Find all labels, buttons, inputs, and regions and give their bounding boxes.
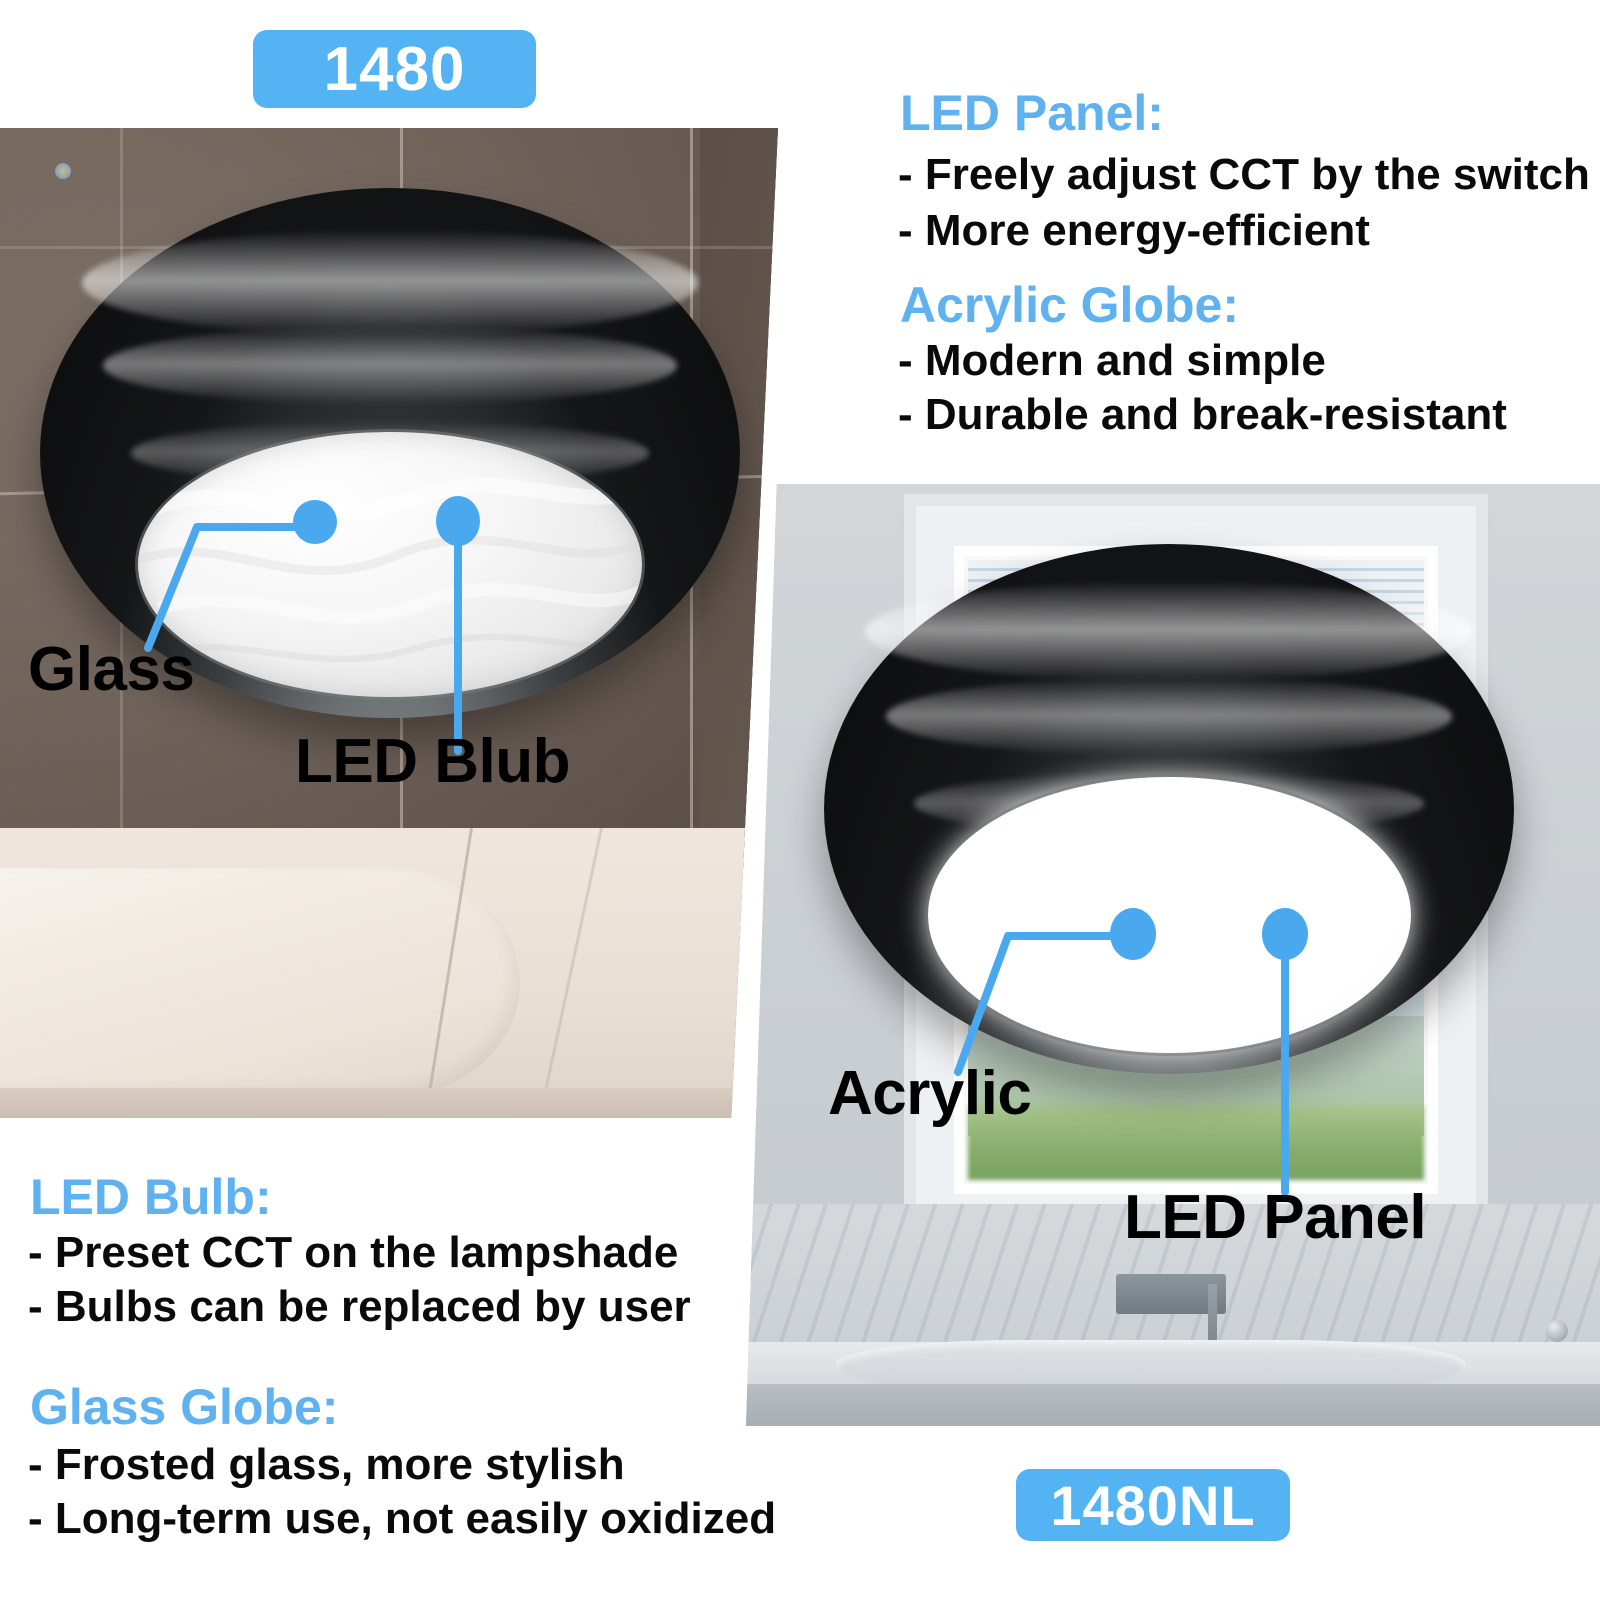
- callout-leader-led-panel: [1266, 950, 1316, 1200]
- tile-highlight-speck: [55, 163, 71, 179]
- infographic-canvas: Glass LED Blub: [0, 0, 1600, 1600]
- counter-edge: [746, 1384, 1600, 1426]
- bullet-led-panel-2: - More energy-efficient: [898, 206, 1370, 256]
- callout-leader-acrylic: [936, 922, 1156, 1182]
- bullet-acrylic-globe-2: - Durable and break-resistant: [898, 390, 1507, 440]
- callout-label-acrylic: Acrylic: [828, 1058, 1031, 1129]
- lamp-gloss-highlight: [103, 326, 677, 406]
- product-photo-1480nl: Acrylic LED Panel: [746, 484, 1600, 1426]
- heading-led-bulb: LED Bulb:: [30, 1168, 272, 1226]
- model-badge-1480: 1480: [253, 30, 536, 108]
- heading-acrylic-globe: Acrylic Globe:: [900, 276, 1239, 334]
- heading-glass-globe: Glass Globe:: [30, 1378, 338, 1436]
- lamp-gloss-highlight: [82, 230, 698, 336]
- lamp-gloss-highlight: [865, 581, 1472, 682]
- bullet-glass-globe-1: - Frosted glass, more stylish: [28, 1440, 625, 1490]
- ceiling-light-fixture-1480nl: [824, 544, 1514, 1074]
- bullet-led-bulb-2: - Bulbs can be replaced by user: [28, 1282, 691, 1332]
- callout-label-led-panel: LED Panel: [1124, 1182, 1426, 1253]
- bullet-led-bulb-1: - Preset CCT on the lampshade: [28, 1228, 678, 1278]
- product-photo-1480: Glass LED Blub: [0, 128, 778, 1118]
- callout-label-led-bulb: LED Blub: [295, 726, 570, 797]
- faucet-stem: [1208, 1284, 1217, 1348]
- faucet-knob: [1546, 1320, 1568, 1342]
- lamp-gloss-highlight: [886, 677, 1452, 757]
- heading-led-panel: LED Panel:: [900, 84, 1164, 142]
- model-badge-1480nl: 1480NL: [1016, 1469, 1290, 1541]
- callout-label-glass: Glass: [28, 634, 194, 705]
- bullet-acrylic-globe-1: - Modern and simple: [898, 336, 1326, 386]
- tub-edge-strip: [0, 1088, 778, 1118]
- bathtub-basin: [0, 868, 520, 1098]
- bullet-led-panel-1: - Freely adjust CCT by the switch: [898, 150, 1590, 200]
- bullet-glass-globe-2: - Long-term use, not easily oxidized: [28, 1494, 776, 1544]
